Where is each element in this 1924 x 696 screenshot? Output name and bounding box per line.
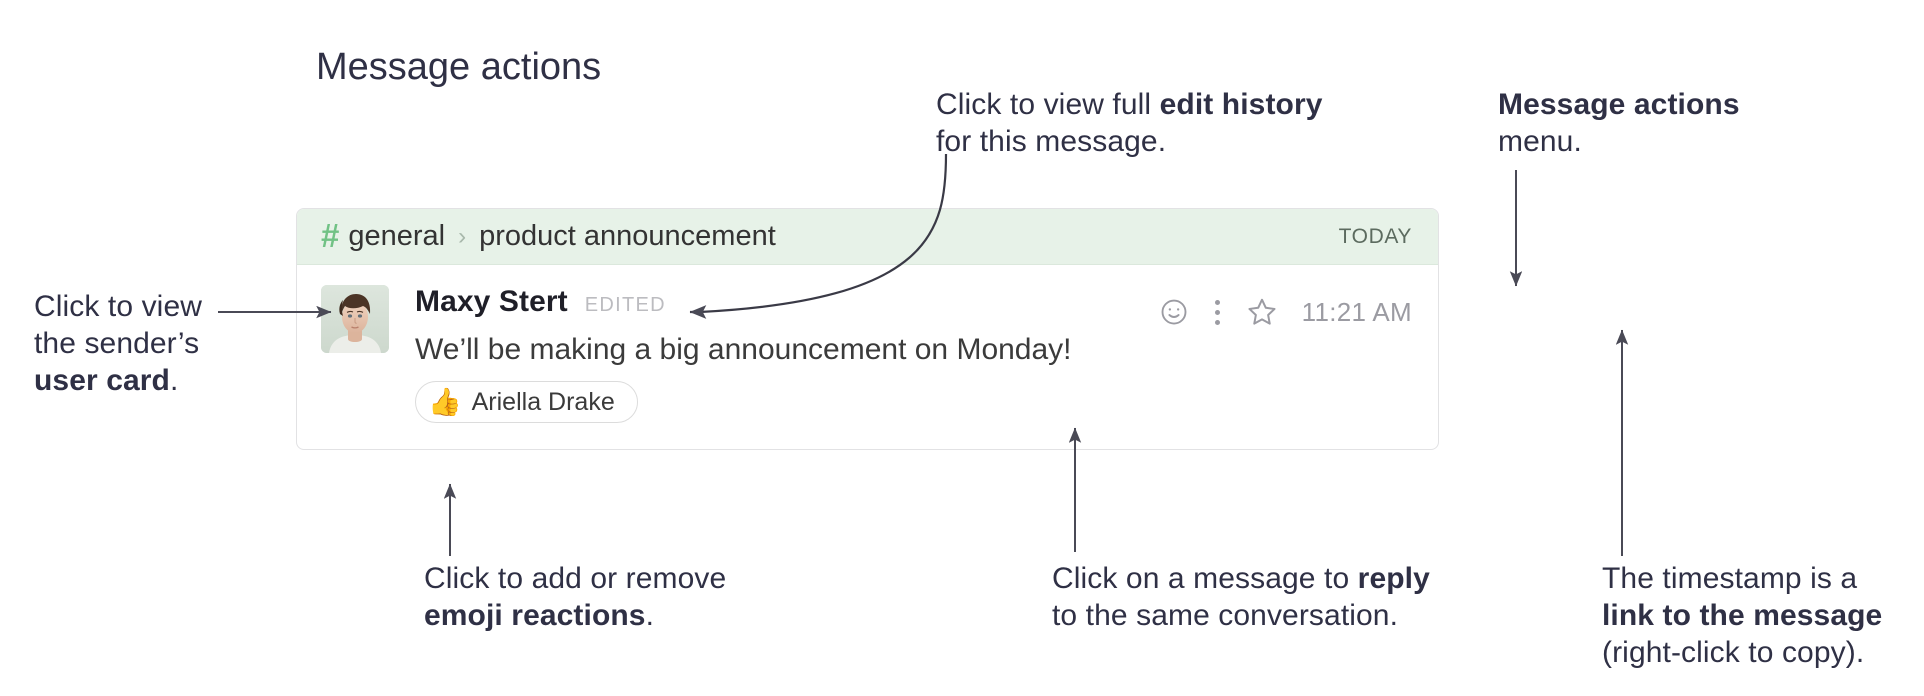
page-title: Message actions xyxy=(316,44,601,90)
annotation-user-card: Click to view the sender’s user card. xyxy=(34,288,284,399)
annotation-actions-menu-emphasis: Message actions xyxy=(1498,88,1740,121)
annotation-emoji-reactions-emphasis: emoji reactions xyxy=(424,599,646,632)
annotation-reply-line1: Click on a message to reply xyxy=(1052,560,1472,597)
annotation-emoji-reactions-period: . xyxy=(646,599,654,632)
annotation-user-card-period: . xyxy=(170,364,178,397)
annotation-reply-emphasis: reply xyxy=(1358,562,1430,595)
annotation-timestamp-link-line2: link to the message xyxy=(1602,597,1922,634)
annotation-edit-history-line1: Click to view full edit history xyxy=(936,86,1356,123)
edited-label[interactable]: EDITED xyxy=(585,294,666,317)
annotation-edit-history-line2: for this message. xyxy=(936,123,1356,160)
topic-name[interactable]: product announcement xyxy=(479,220,776,253)
reaction-pill[interactable]: 👍 Ariella Drake xyxy=(415,381,638,423)
date-label: TODAY xyxy=(1339,225,1412,249)
annotation-emoji-reactions-line2: emoji reactions. xyxy=(424,597,784,634)
annotation-user-card-line3: user card. xyxy=(34,362,284,399)
star-message-button[interactable] xyxy=(1246,296,1278,328)
message-timestamp-link[interactable]: 11:21 AM xyxy=(1302,297,1412,328)
annotation-edit-history: Click to view full edit history for this… xyxy=(936,86,1356,160)
annotation-user-card-line1: Click to view xyxy=(34,288,284,325)
annotation-actions-menu-line1: Message actions xyxy=(1498,86,1798,123)
annotation-timestamp-link-line3: (right-click to copy). xyxy=(1602,634,1922,671)
message-text[interactable]: We’ll be making a big announcement on Mo… xyxy=(415,331,1412,369)
vertical-ellipsis-icon xyxy=(1215,300,1220,305)
annotation-timestamp-link-emphasis: link to the message xyxy=(1602,599,1882,632)
reaction-user-label: Ariella Drake xyxy=(472,388,615,417)
annotation-actions-menu-line2: menu. xyxy=(1498,123,1798,160)
annotation-user-card-emphasis: user card xyxy=(34,364,170,397)
emoji-reaction-button[interactable] xyxy=(1159,297,1189,327)
sender-name[interactable]: Maxy Stert xyxy=(415,285,568,319)
message-card[interactable]: # general › product announcement TODAY xyxy=(296,208,1439,450)
annotation-reply: Click on a message to reply to the same … xyxy=(1052,560,1472,634)
reactions-row: 👍 Ariella Drake xyxy=(415,381,1412,423)
thumbs-up-emoji-icon: 👍 xyxy=(428,389,462,416)
avatar-photo xyxy=(321,285,389,353)
message-controls: 11:21 AM xyxy=(1159,293,1412,331)
annotation-reply-plain: Click on a message to xyxy=(1052,562,1358,595)
annotation-edit-history-emphasis: edit history xyxy=(1160,88,1323,121)
vertical-ellipsis-icon xyxy=(1215,310,1220,315)
star-outline-icon xyxy=(1246,296,1278,328)
annotation-reply-line2: to the same conversation. xyxy=(1052,597,1472,634)
message-actions-menu-button[interactable] xyxy=(1215,297,1220,327)
stream-topic-bar[interactable]: # general › product announcement TODAY xyxy=(297,209,1438,265)
annotation-emoji-reactions-line1: Click to add or remove xyxy=(424,560,784,597)
annotation-timestamp-link: The timestamp is a link to the message (… xyxy=(1602,560,1922,671)
message-row[interactable]: Maxy Stert EDITED We’ll be making a big … xyxy=(297,265,1438,449)
hash-icon: # xyxy=(321,219,339,252)
annotation-edit-history-plain: Click to view full xyxy=(936,88,1160,121)
annotation-actions-menu: Message actions menu. xyxy=(1498,86,1798,160)
annotation-timestamp-link-line1: The timestamp is a xyxy=(1602,560,1922,597)
avatar[interactable] xyxy=(321,285,389,353)
vertical-ellipsis-icon xyxy=(1215,320,1220,325)
smiley-face-icon xyxy=(1159,297,1189,327)
stream-name[interactable]: general xyxy=(348,220,445,253)
annotation-emoji-reactions: Click to add or remove emoji reactions. xyxy=(424,560,784,634)
annotation-user-card-line2: the sender’s xyxy=(34,325,284,362)
chevron-right-icon: › xyxy=(458,225,466,249)
